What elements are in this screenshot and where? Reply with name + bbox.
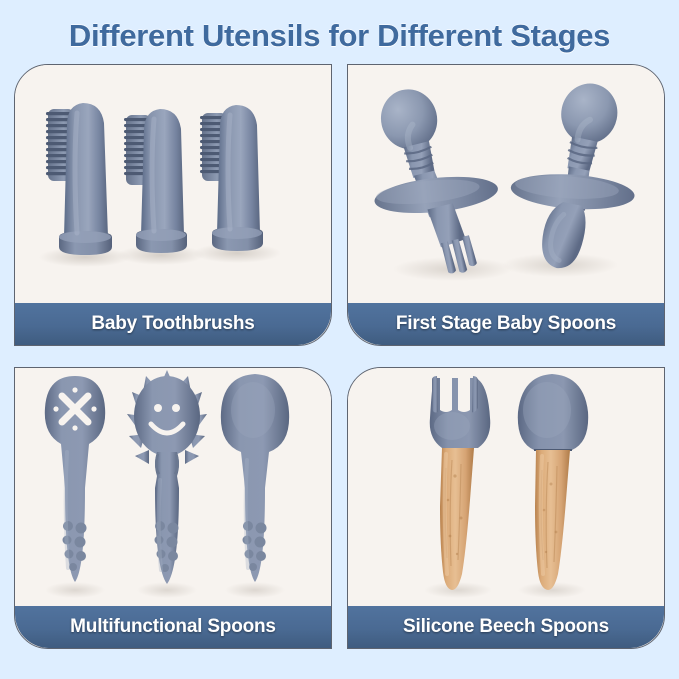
product-infographic: Different Utensils for Different Stages xyxy=(0,0,679,679)
product-photo-multifunctional-spoons xyxy=(15,368,331,600)
panel-grid: Baby Toothbrushs xyxy=(14,64,665,664)
panel-caption-silicone-beech-spoons: Silicone Beech Spoons xyxy=(348,606,664,648)
panel-baby-toothbrushes[interactable]: Baby Toothbrushs xyxy=(14,64,332,346)
toothbrush-icon xyxy=(15,65,331,297)
panel-caption-baby-toothbrushes: Baby Toothbrushs xyxy=(15,303,331,345)
wood-handle-utensil-icon xyxy=(348,368,664,600)
product-photo-first-stage-spoons xyxy=(348,65,664,297)
product-photo-beech-spoons xyxy=(348,368,664,600)
panel-silicone-beech-spoons[interactable]: Silicone Beech Spoons xyxy=(347,367,665,649)
panel-multifunctional-spoons[interactable]: Multifunctional Spoons xyxy=(14,367,332,649)
panel-caption-multifunctional-spoons: Multifunctional Spoons xyxy=(15,606,331,648)
page-title: Different Utensils for Different Stages xyxy=(0,18,679,54)
training-utensil-icon xyxy=(348,65,664,297)
product-photo-toothbrushes xyxy=(15,65,331,297)
multifunction-spoon-icon xyxy=(15,368,331,600)
panel-first-stage-baby-spoons[interactable]: First Stage Baby Spoons xyxy=(347,64,665,346)
panel-caption-first-stage-baby-spoons: First Stage Baby Spoons xyxy=(348,303,664,345)
